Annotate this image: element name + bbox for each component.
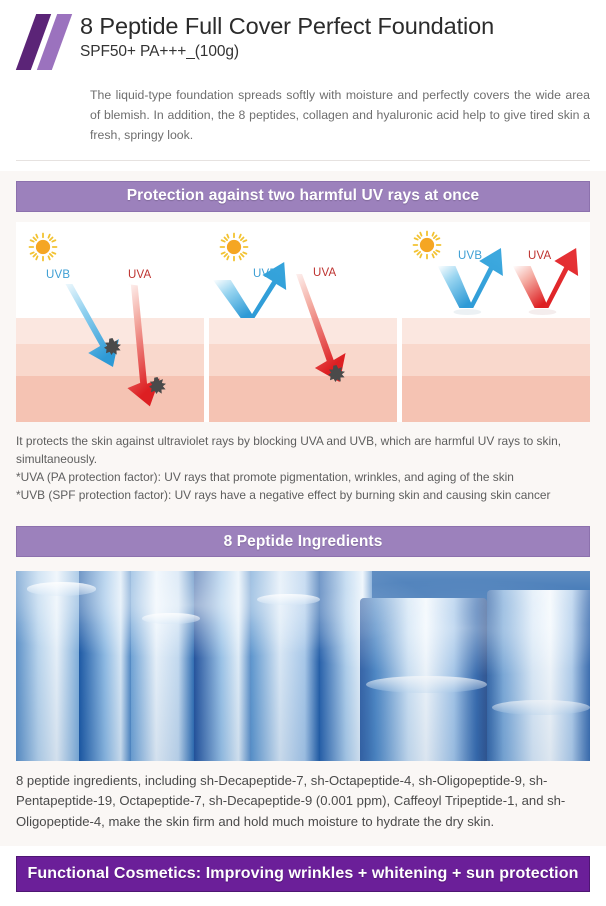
uv-panel-partial: UVB UVA [209,222,397,422]
damage-burst-icon [149,377,166,394]
uv-arrows-partial [209,222,397,422]
uv-arrows-blocked [402,222,590,422]
section-banner-peptide: 8 Peptide Ingredients [16,526,590,557]
title-block: 8 Peptide Full Cover Perfect Foundation … [72,12,494,62]
uv-copy-line2: *UVA (PA protection factor): UV rays tha… [16,468,590,486]
section-banner-uv: Protection against two harmful UV rays a… [16,181,590,212]
uv-arrows-penetrating [16,222,204,422]
uv-figure-wrap: UVB UVA [0,222,606,428]
uv-body-copy: It protects the skin against ultraviolet… [0,428,606,516]
uv-diagram: UVB UVA [16,222,590,422]
page-subtitle: SPF50+ PA+++_(100g) [80,42,494,62]
uv-copy-line1: It protects the skin against ultraviolet… [16,432,590,468]
intro-paragraph: The liquid-type foundation spreads softl… [90,86,590,146]
peptide-banner-band: 8 Peptide Ingredients [0,516,606,567]
peptide-photo-wrap [0,567,606,761]
footer-banner: Functional Cosmetics: Improving wrinkles… [16,856,590,892]
footer-banner-wrap: Functional Cosmetics: Improving wrinkles… [0,846,606,906]
product-detail-page: 8 Peptide Full Cover Perfect Foundation … [0,0,606,879]
uv-panel-protected: UVB UVA [402,222,590,422]
peptide-body-copy: 8 peptide ingredients, including sh-Deca… [0,761,606,846]
uv-copy-line3: *UVB (SPF protection factor): UV rays ha… [16,486,590,504]
footer-banner-label: Functional Cosmetics: Improving wrinkles… [28,865,579,883]
section-banner-peptide-label: 8 Peptide Ingredients [224,533,383,551]
peptide-copy-text: 8 peptide ingredients, including sh-Deca… [16,771,590,832]
page-header: 8 Peptide Full Cover Perfect Foundation … [0,0,606,171]
section-banner-uv-label: Protection against two harmful UV rays a… [127,187,480,205]
title-row: 8 Peptide Full Cover Perfect Foundation … [16,12,590,72]
uv-banner-band: Protection against two harmful UV rays a… [0,171,606,222]
photo-lighting-overlay [16,571,590,761]
damage-burst-icon [104,338,121,355]
page-title: 8 Peptide Full Cover Perfect Foundation [80,13,494,39]
header-divider [16,160,590,161]
double-slash-logo-icon [18,14,72,72]
laboratory-test-tubes-photo [16,571,590,761]
uv-panel-unprotected: UVB UVA [16,222,204,422]
damage-burst-icon [328,365,345,382]
